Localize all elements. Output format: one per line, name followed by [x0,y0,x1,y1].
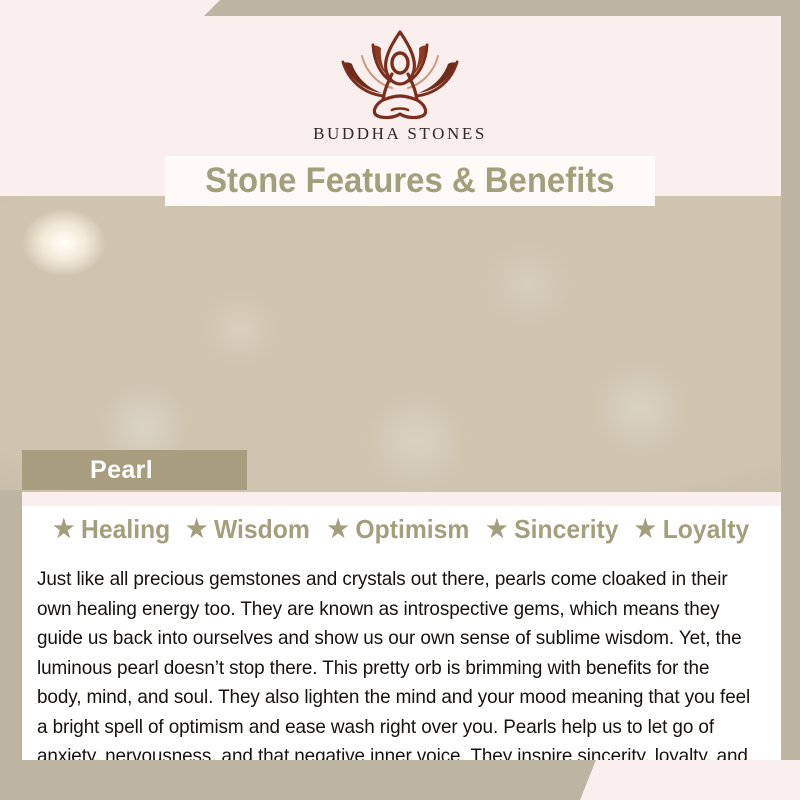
star-icon: ★ [53,517,74,542]
poster-header: BUDDHA STONES Stone Features & Benefits [0,16,800,196]
stone-photo [0,195,800,492]
benefits-list: ★ Healing ★ Wisdom ★ Optimism ★ Sincerit… [22,514,781,545]
stone-name-label: Pearl [22,456,153,485]
page-title: Stone Features & Benefits [205,161,615,201]
frame-right-accent-bar [781,16,800,760]
brand-name: BUDDHA STONES [0,124,800,144]
stone-name-plate: Pearl [22,450,247,490]
stone-description: Just like all precious gemstones and cry… [37,565,754,760]
frame-top-accent-bar [0,0,800,16]
benefit-item-loyalty: ★ Loyalty [626,514,750,545]
benefit-label: Optimism [355,514,469,545]
content-top-tint [22,492,781,506]
benefit-item-sincerity: ★ Sincerity [477,514,619,545]
title-banner: Stone Features & Benefits [165,156,655,206]
frame-left-accent-bar [0,490,22,770]
star-icon: ★ [635,517,656,542]
stone-photo-vignette [0,195,800,492]
benefit-label: Healing [81,514,170,545]
lotus-meditation-logo-icon [310,26,490,122]
brand-logo: BUDDHA STONES [0,26,800,144]
benefit-item-wisdom: ★ Wisdom [177,514,310,545]
star-icon: ★ [486,517,507,542]
frame-bottom-accent-bar [0,760,800,800]
benefit-label: Sincerity [514,514,618,545]
benefit-item-healing: ★ Healing [53,514,170,545]
star-icon: ★ [327,517,348,542]
content-panel: ★ Healing ★ Wisdom ★ Optimism ★ Sincerit… [22,492,781,760]
stone-benefits-poster: BUDDHA STONES Stone Features & Benefits … [0,0,800,800]
benefit-label: Loyalty [663,514,749,545]
benefit-label: Wisdom [214,514,310,545]
benefit-item-optimism: ★ Optimism [318,514,469,545]
star-icon: ★ [186,517,207,542]
